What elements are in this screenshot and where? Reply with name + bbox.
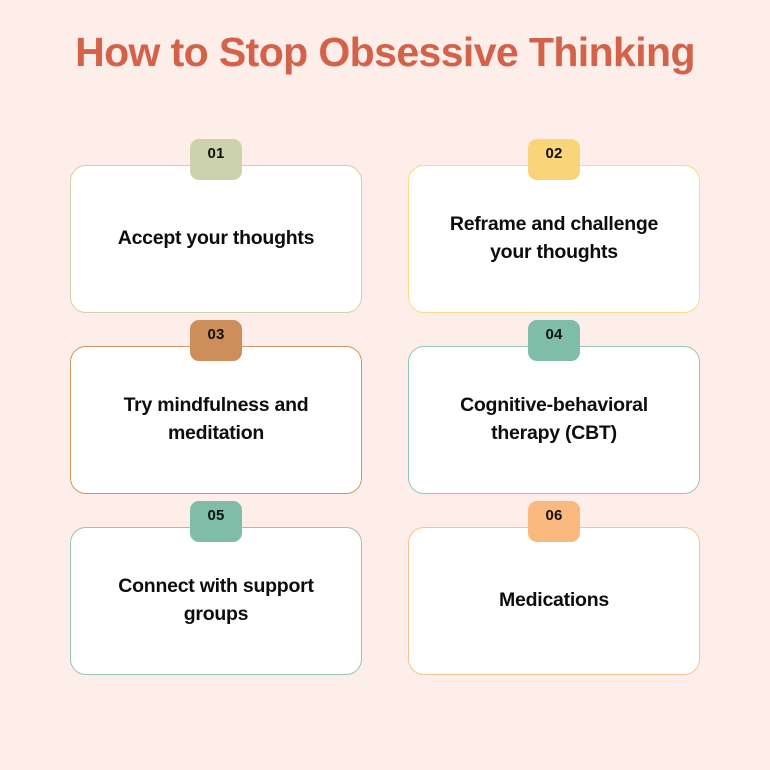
step-card-04[interactable]: Cognitive-behavioral therapy (CBT) [408, 346, 700, 494]
step-card-label: Medications [499, 587, 609, 615]
step-card-02[interactable]: Reframe and challenge your thoughts [408, 165, 700, 313]
page-title: How to Stop Obsessive Thinking [75, 30, 695, 76]
step-card-06[interactable]: Medications [408, 527, 700, 675]
step-card-slot: 04 Cognitive-behavioral therapy (CBT) [408, 320, 700, 468]
step-card-slot: 06 Medications [408, 501, 700, 649]
step-number-badge-03: 03 [190, 320, 242, 361]
step-number-badge-06: 06 [528, 501, 580, 542]
infographic-poster: How to Stop Obsessive Thinking 01 Accept… [0, 0, 770, 770]
step-card-label: Cognitive-behavioral therapy (CBT) [429, 392, 679, 447]
step-card-label: Reframe and challenge your thoughts [429, 211, 679, 266]
step-number-label: 05 [207, 507, 224, 524]
step-number-badge-04: 04 [528, 320, 580, 361]
step-number-badge-01: 01 [190, 139, 242, 180]
step-card-label: Try mindfulness and meditation [91, 392, 341, 447]
step-card-05[interactable]: Connect with support groups [70, 527, 362, 675]
step-number-label: 03 [207, 326, 224, 343]
step-card-slot: 02 Reframe and challenge your thoughts [408, 139, 700, 287]
step-card-03[interactable]: Try mindfulness and meditation [70, 346, 362, 494]
step-number-label: 06 [545, 507, 562, 524]
step-number-label: 02 [545, 145, 562, 162]
step-card-slot: 05 Connect with support groups [70, 501, 362, 649]
step-card-slot: 01 Accept your thoughts [70, 139, 362, 287]
step-number-badge-02: 02 [528, 139, 580, 180]
step-card-label: Connect with support groups [91, 573, 341, 628]
step-number-label: 04 [545, 326, 562, 343]
step-number-label: 01 [207, 145, 224, 162]
step-card-01[interactable]: Accept your thoughts [70, 165, 362, 313]
step-card-slot: 03 Try mindfulness and meditation [70, 320, 362, 468]
step-card-label: Accept your thoughts [118, 225, 315, 253]
step-card-grid: 01 Accept your thoughts 02 Reframe and c… [70, 139, 700, 649]
step-number-badge-05: 05 [190, 501, 242, 542]
